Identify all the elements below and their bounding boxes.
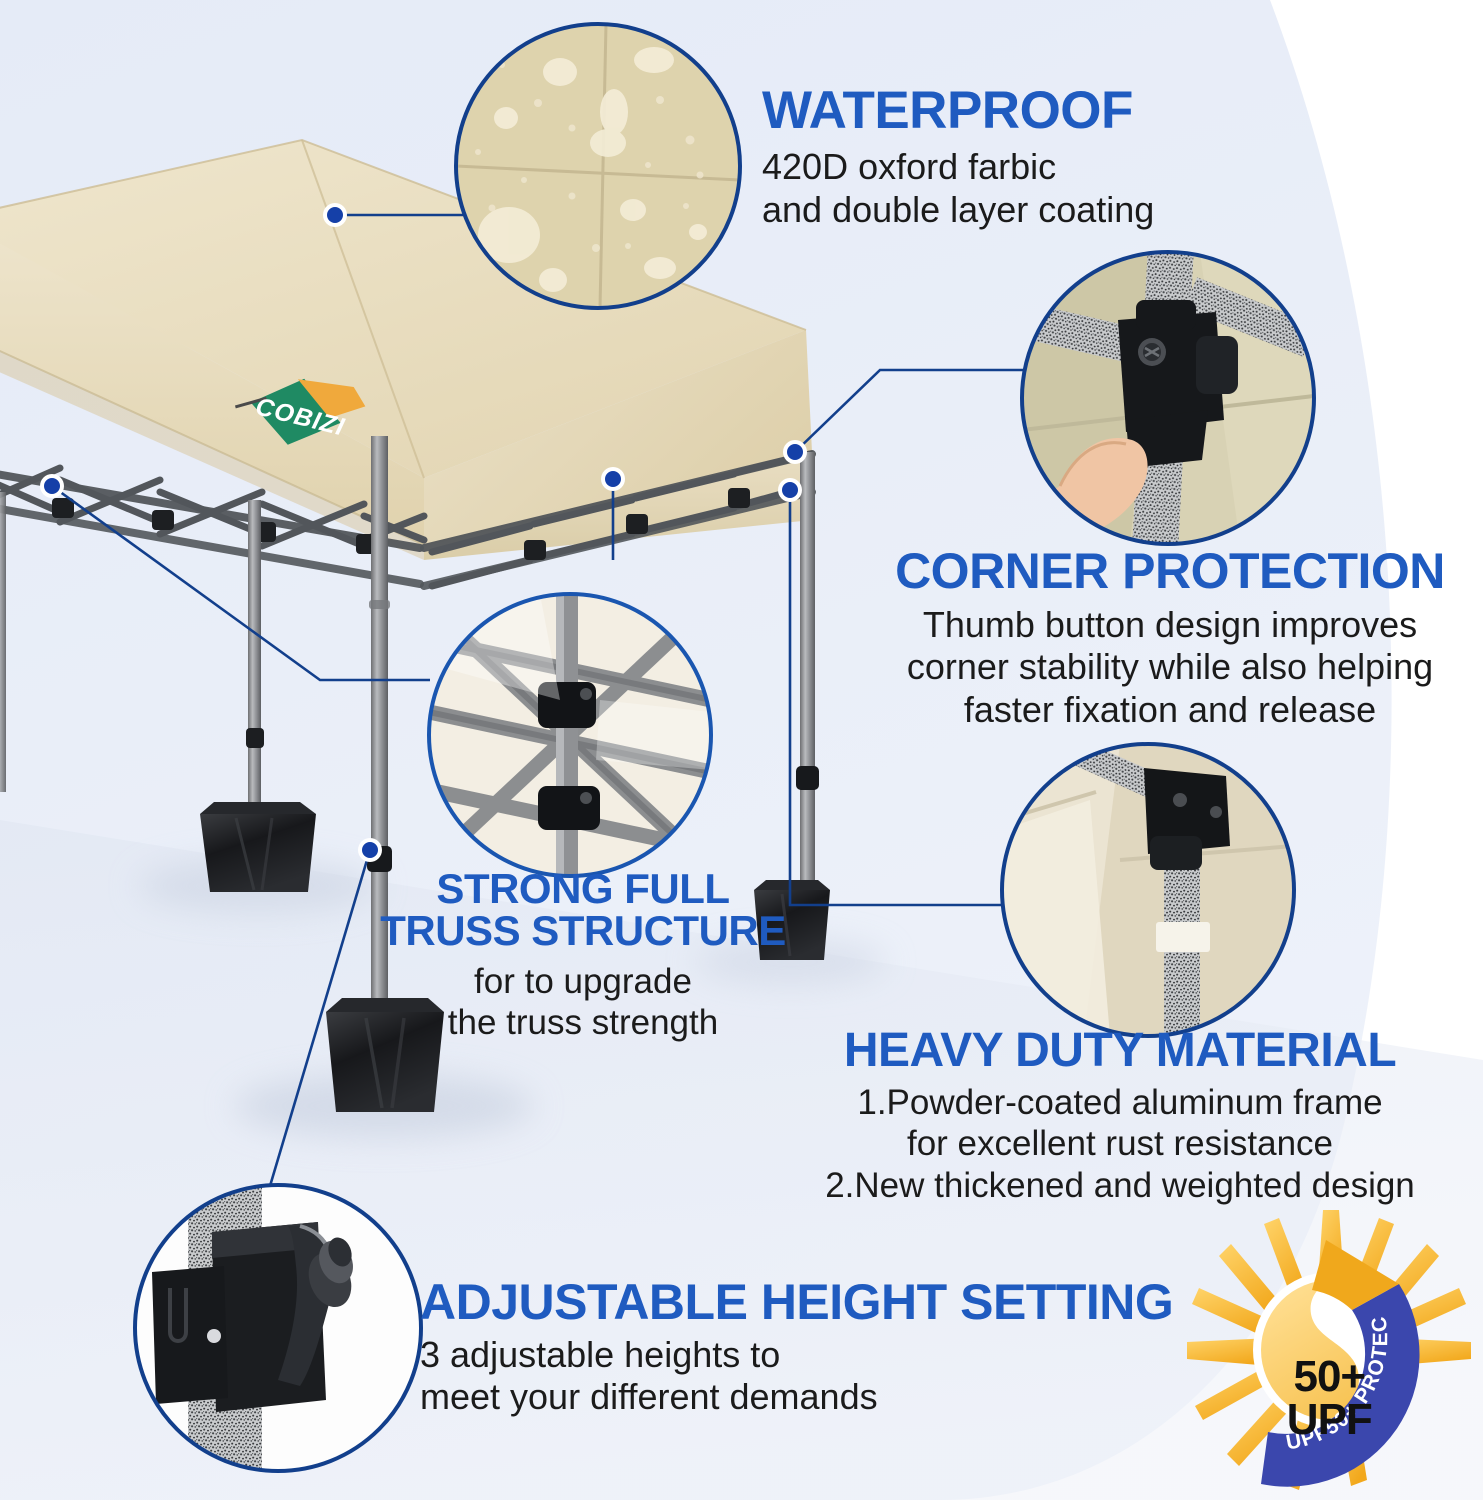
hotspot-truss-top bbox=[605, 471, 621, 487]
feature-corner-protection-title: CORNER PROTECTION bbox=[895, 546, 1445, 597]
hotspot-truss-left bbox=[44, 478, 60, 494]
detail-circle-waterproof bbox=[456, 24, 740, 308]
feature-corner-protection-body: Thumb button design improves corner stab… bbox=[895, 604, 1445, 731]
body-line: 420D oxford farbic bbox=[762, 146, 1154, 188]
hotspot-corner-protection bbox=[787, 444, 803, 460]
feature-heavy-duty-body: 1.Powder-coated aluminum frame for excel… bbox=[825, 1082, 1415, 1206]
body-line: 2.New thickened and weighted design bbox=[825, 1165, 1415, 1206]
detail-circle-adjustable-height bbox=[135, 1185, 421, 1471]
hotspot-heavy-duty bbox=[782, 482, 798, 498]
upf-protection-badge: 50+ UPF bbox=[1196, 1208, 1466, 1493]
body-line: 3 adjustable heights to bbox=[420, 1334, 1173, 1376]
feature-heavy-duty: HEAVY DUTY MATERIAL 1.Powder-coated alum… bbox=[825, 1027, 1415, 1206]
body-line: faster fixation and release bbox=[895, 689, 1445, 731]
body-line: the truss strength bbox=[380, 1002, 786, 1043]
body-line: 1.Powder-coated aluminum frame bbox=[825, 1082, 1415, 1123]
feature-adjustable-height-title: ADJUSTABLE HEIGHT SETTING bbox=[420, 1277, 1173, 1328]
infographic-canvas: COBIZI bbox=[0, 0, 1483, 1500]
upf-badge-text: 50+ UPF bbox=[1287, 1356, 1372, 1441]
feature-truss-structure-title: STRONG FULL TRUSS STRUCTURE bbox=[380, 868, 786, 952]
body-line: for to upgrade bbox=[380, 961, 786, 1002]
upf-value: 50+ bbox=[1287, 1356, 1372, 1399]
body-line: Thumb button design improves bbox=[895, 604, 1445, 646]
truss-joint-lower bbox=[538, 786, 600, 830]
feature-waterproof-title: WATERPROOF bbox=[762, 84, 1154, 138]
feature-waterproof: WATERPROOF 420D oxford farbic and double… bbox=[762, 84, 1154, 231]
feature-truss-structure: STRONG FULL TRUSS STRUCTURE for to upgra… bbox=[380, 868, 786, 1044]
height-clamp bbox=[796, 766, 819, 790]
hotspot-adjustable-height bbox=[362, 842, 378, 858]
leg-right bbox=[796, 452, 819, 918]
weight-bag-rear-left bbox=[200, 802, 316, 892]
feature-adjustable-height: ADJUSTABLE HEIGHT SETTING 3 adjustable h… bbox=[420, 1277, 1173, 1419]
hotspot-waterproof bbox=[327, 207, 343, 223]
feature-waterproof-body: 420D oxford farbic and double layer coat… bbox=[762, 146, 1154, 231]
feature-heavy-duty-title: HEAVY DUTY MATERIAL bbox=[825, 1027, 1415, 1076]
detail-circle-heavy-duty bbox=[1002, 735, 1294, 1036]
title-line: STRONG FULL bbox=[380, 868, 786, 910]
feature-truss-structure-body: for to upgrade the truss strength bbox=[380, 961, 786, 1044]
feature-adjustable-height-body: 3 adjustable heights to meet your differ… bbox=[420, 1334, 1173, 1419]
body-line: meet your different demands bbox=[420, 1376, 1173, 1418]
detail-circle-truss bbox=[429, 594, 711, 876]
detail-circle-corner-protection bbox=[1020, 251, 1316, 545]
upf-label: UPF bbox=[1287, 1399, 1372, 1442]
title-line: TRUSS STRUCTURE bbox=[380, 910, 786, 952]
body-line: corner stability while also helping bbox=[895, 646, 1445, 688]
body-line: and double layer coating bbox=[762, 189, 1154, 231]
feature-corner-protection: CORNER PROTECTION Thumb button design im… bbox=[895, 546, 1445, 731]
body-line: for excellent rust resistance bbox=[825, 1123, 1415, 1164]
leg-far-left bbox=[0, 492, 6, 792]
height-clamp bbox=[246, 728, 264, 748]
